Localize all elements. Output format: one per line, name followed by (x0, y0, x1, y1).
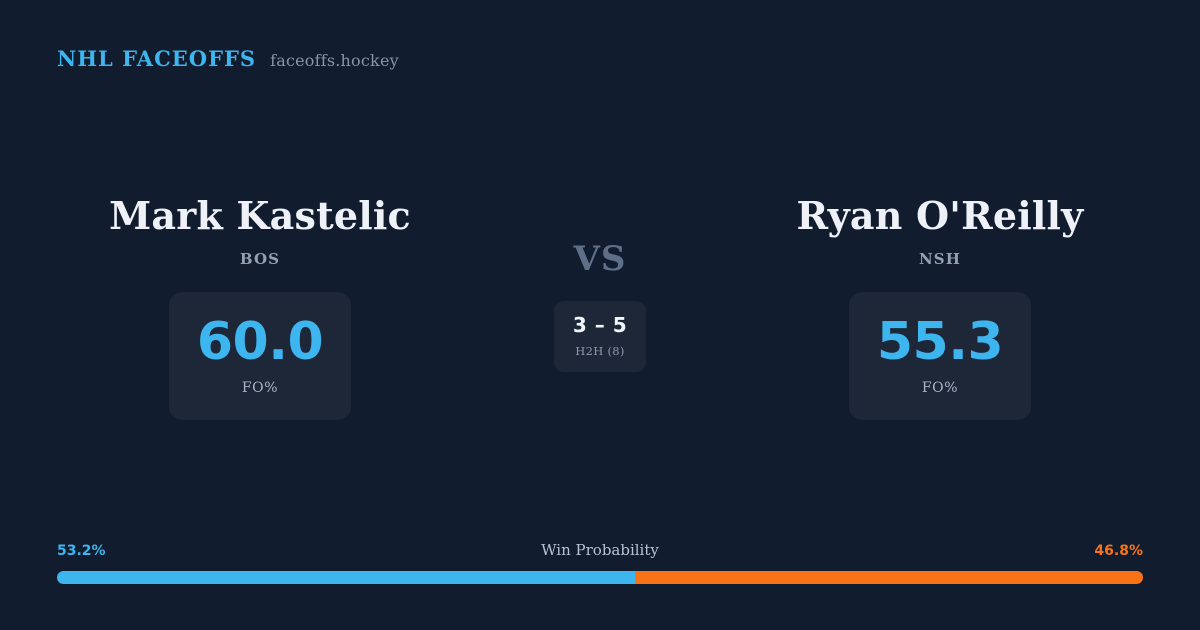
right-player-faceoff-value: 55.3 (877, 316, 1003, 368)
right-player-block: Ryan O'Reilly NSH 55.3 FO% (700, 196, 1180, 420)
left-player-name: Mark Kastelic (109, 196, 411, 236)
right-player-faceoff-label: FO% (922, 380, 958, 396)
left-player-team: BOS (240, 250, 280, 268)
site-header: NHL FACEOFFS faceoffs.hockey (57, 46, 399, 71)
left-player-faceoff-value: 60.0 (197, 316, 323, 368)
right-player-team: NSH (919, 250, 961, 268)
left-player-faceoff-label: FO% (242, 380, 278, 396)
right-player-stat-card: 55.3 FO% (849, 292, 1031, 420)
versus-label: VS (574, 242, 627, 276)
win-probability-labels: 53.2% Win Probability 46.8% (57, 541, 1143, 561)
matchup-row: Mark Kastelic BOS 60.0 FO% VS 3 – 5 H2H … (0, 196, 1200, 420)
head-to-head-score: 3 – 5 (573, 315, 627, 335)
head-to-head-label: H2H (8) (575, 344, 624, 358)
win-probability-title: Win Probability (57, 541, 1143, 559)
win-probability-bar-left-fill (57, 571, 635, 584)
infographic-canvas: NHL FACEOFFS faceoffs.hockey Mark Kastel… (0, 0, 1200, 630)
right-player-name: Ryan O'Reilly (797, 196, 1084, 236)
win-probability-section: 53.2% Win Probability 46.8% (57, 541, 1143, 584)
win-probability-bar (57, 571, 1143, 584)
brand-title: NHL FACEOFFS (57, 46, 256, 71)
head-to-head-card: 3 – 5 H2H (8) (554, 301, 646, 372)
left-player-stat-card: 60.0 FO% (169, 292, 351, 420)
site-domain: faceoffs.hockey (270, 51, 399, 70)
left-player-block: Mark Kastelic BOS 60.0 FO% (20, 196, 500, 420)
versus-block: VS 3 – 5 H2H (8) (500, 196, 700, 372)
win-probability-bar-right-fill (635, 571, 1143, 584)
